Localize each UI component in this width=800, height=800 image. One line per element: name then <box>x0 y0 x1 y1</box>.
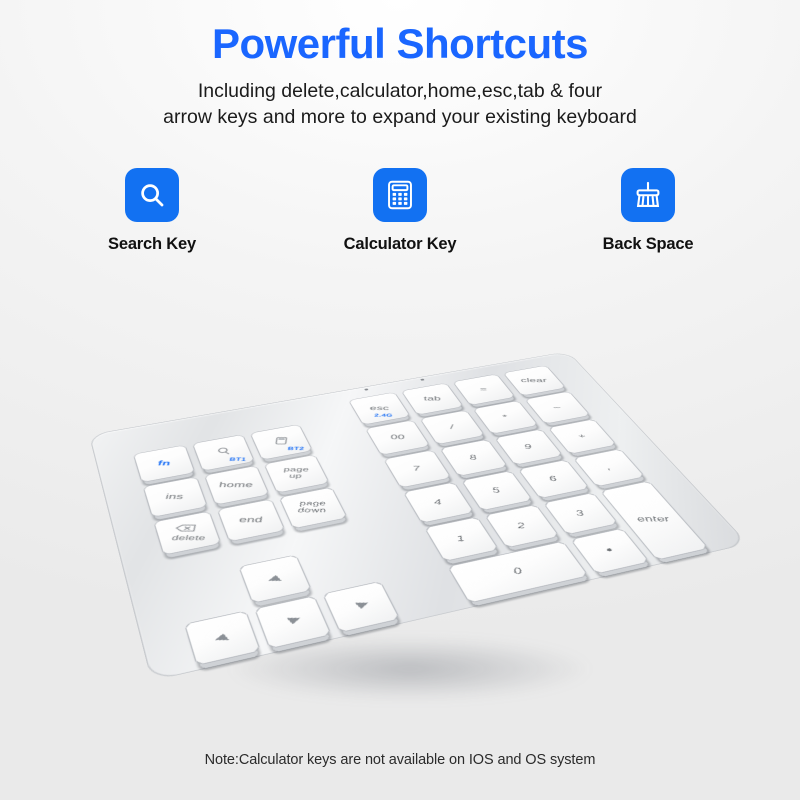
feature-label: Calculator Key <box>335 235 465 254</box>
key-label: enter <box>636 515 671 523</box>
arrow-down-icon <box>284 615 301 629</box>
key-label: ins <box>165 493 185 501</box>
key-sublabel: BT2 <box>287 446 304 451</box>
key-label: 1 <box>457 534 466 542</box>
footer-note: Note:Calculator keys are not available o… <box>0 752 800 768</box>
key-label: delete <box>171 535 206 542</box>
calculator-icon <box>274 437 287 447</box>
brush-icon-tile <box>621 168 675 222</box>
key-label: 4 <box>434 498 442 506</box>
key-label: esc <box>369 405 388 411</box>
key-label: + <box>578 433 587 440</box>
arrow-up-icon <box>267 572 283 585</box>
feature-back-space: Back Space <box>583 168 713 254</box>
key-label: 7 <box>413 465 421 472</box>
key-label: • <box>605 545 614 556</box>
arrow-right-icon <box>353 599 369 613</box>
search-icon <box>137 180 167 210</box>
key-sublabel: BT1 <box>229 456 247 461</box>
key-sublabel: 2.4G <box>359 413 408 418</box>
feature-calculator-key: Calculator Key <box>335 168 465 254</box>
brush-icon <box>633 180 663 210</box>
key-label: 2 <box>517 522 526 530</box>
key-label: 00 <box>390 434 404 441</box>
key-label: home <box>219 481 254 488</box>
subtitle-line-2: arrow keys and more to expand your exist… <box>100 104 700 130</box>
page-subtitle: Including delete,calculator,home,esc,tab… <box>100 78 700 131</box>
key-label: 5 <box>492 486 500 494</box>
key-label: 6 <box>549 475 558 482</box>
key-label: 0 <box>513 567 522 576</box>
key-label: tab <box>423 396 440 402</box>
headline-block: Powerful Shortcuts Including delete,calc… <box>0 22 800 131</box>
subtitle-line-1: Including delete,calculator,home,esc,tab… <box>100 78 700 104</box>
page-title: Powerful Shortcuts <box>0 22 800 66</box>
calculator-icon <box>386 180 414 210</box>
feature-row: Search Key <box>0 168 800 254</box>
key-label: – <box>553 404 561 410</box>
key-label: page up <box>283 467 310 479</box>
feature-label: Search Key <box>87 235 217 254</box>
key-label: * <box>502 414 508 420</box>
keyboard-product-photo: fn BT1 BT2 i <box>0 272 800 742</box>
key-label: end <box>238 516 263 524</box>
key-label: clear <box>521 377 548 383</box>
search-icon-tile <box>125 168 179 222</box>
delete-icon <box>174 523 197 535</box>
key-label: / <box>450 424 454 431</box>
feature-search-key: Search Key <box>87 168 217 254</box>
arrow-left-icon <box>213 630 231 645</box>
key-label: 8 <box>470 454 478 461</box>
calculator-icon-tile <box>373 168 427 222</box>
key-label: 3 <box>576 509 585 517</box>
key-label: = <box>480 386 488 392</box>
feature-label: Back Space <box>583 235 713 254</box>
key-label: page down <box>298 501 328 514</box>
product-feature-slide: Powerful Shortcuts Including delete,calc… <box>0 0 800 800</box>
key-label: 9 <box>524 443 532 450</box>
key-label: fn <box>157 460 172 467</box>
key-label: , <box>606 464 612 471</box>
